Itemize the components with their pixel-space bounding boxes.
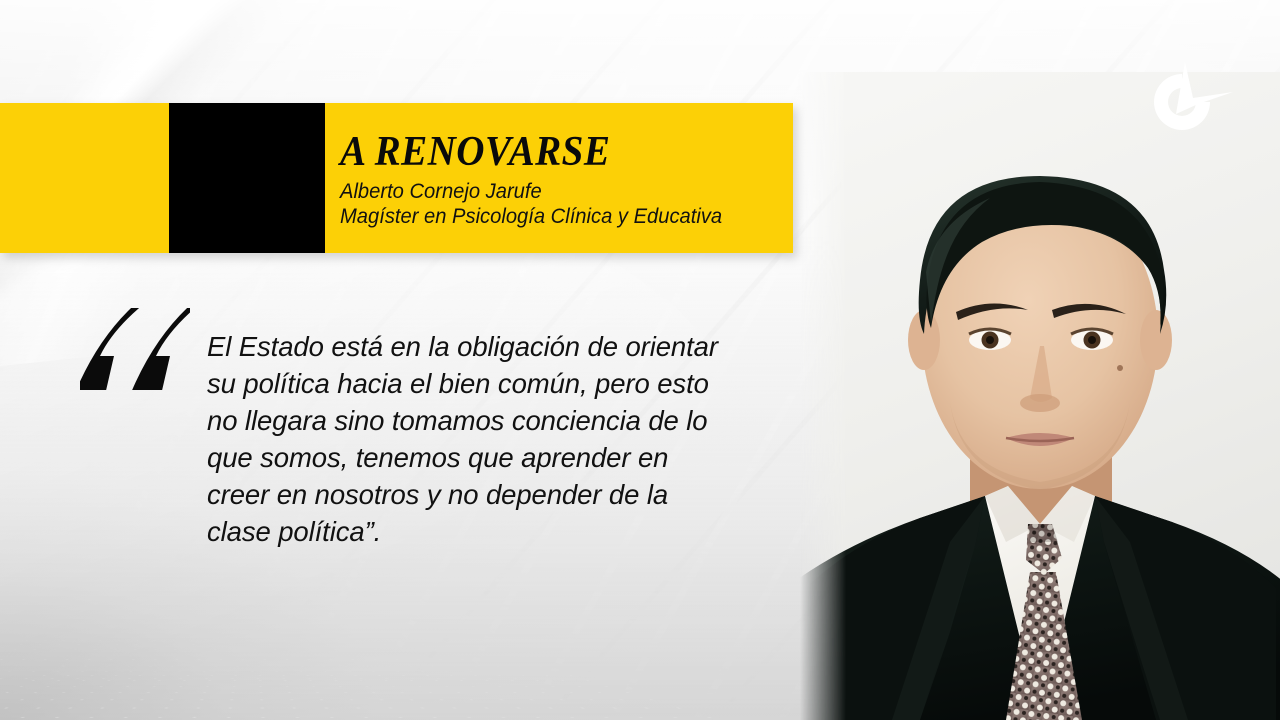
portrait-photo xyxy=(800,72,1280,720)
page-title: A RENOVARSE xyxy=(340,131,761,173)
slide-canvas: A RENOVARSE Alberto Cornejo Jarufe Magís… xyxy=(0,0,1280,720)
author-role: Magíster en Psicología Clínica y Educati… xyxy=(340,205,775,230)
banner-black-block xyxy=(169,103,325,253)
author-name: Alberto Cornejo Jarufe xyxy=(340,180,775,205)
quote-text: El Estado está en la obligación de orien… xyxy=(207,328,807,550)
circular-arrow-logo xyxy=(1138,52,1238,148)
banner-text-group: A RENOVARSE Alberto Cornejo Jarufe Magís… xyxy=(340,103,793,253)
left-double-quotation-mark-icon xyxy=(80,304,190,396)
headline-banner: A RENOVARSE Alberto Cornejo Jarufe Magís… xyxy=(0,103,793,253)
